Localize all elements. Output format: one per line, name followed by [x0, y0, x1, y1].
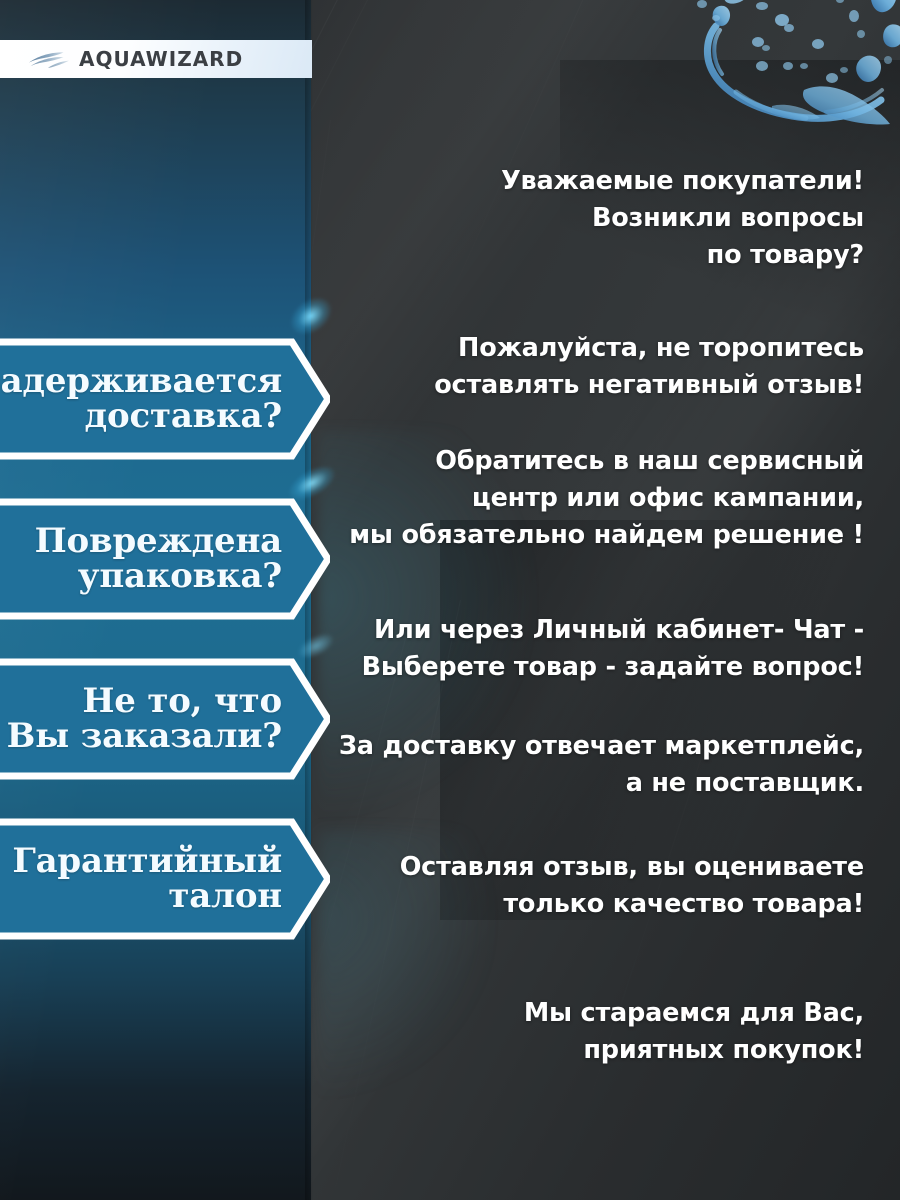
banner-label: Повреждена упаковка? [35, 524, 330, 594]
banner-label: Не то, что Вы заказали? [7, 684, 330, 754]
paragraph-no-rush-review: Пожалуйста, не торопитесь оставлять нега… [434, 330, 864, 404]
banner-wrong-item[interactable]: Не то, что Вы заказали? [0, 658, 330, 780]
banner-damaged-packaging[interactable]: Повреждена упаковка? [0, 498, 330, 620]
paragraph-greeting: Уважаемые покупатели! Возникли вопросы п… [501, 163, 864, 275]
paragraph-personal-account-chat: Или через Личный кабинет- Чат - Выберете… [362, 612, 864, 686]
banner-delayed-delivery[interactable]: Задерживается доставка? [0, 338, 330, 460]
banner-warranty-card[interactable]: Гарантийный талон [0, 818, 330, 940]
message-column: Уважаемые покупатели! Возникли вопросы п… [330, 0, 882, 1200]
paragraph-delivery-responsibility: За доставку отвечает маркетплейс, а не п… [339, 728, 864, 802]
brand-logo: AQUAWIZARD [0, 40, 312, 78]
promo-poster: AQUAWIZARD Задерживается доставка? Повре… [0, 0, 900, 1200]
water-wave-icon [28, 49, 70, 69]
banner-label: Гарантийный талон [12, 844, 330, 914]
brand-name: AQUAWIZARD [79, 49, 243, 69]
paragraph-closing: Мы стараемся для Вас, приятных покупок! [524, 995, 864, 1069]
paragraph-review-quality: Оставляя отзыв, вы оцениваете только кач… [400, 849, 864, 923]
banner-label: Задерживается доставка? [0, 364, 330, 434]
paragraph-contact-service: Обратитесь в наш сервисный центр или офи… [349, 443, 864, 555]
